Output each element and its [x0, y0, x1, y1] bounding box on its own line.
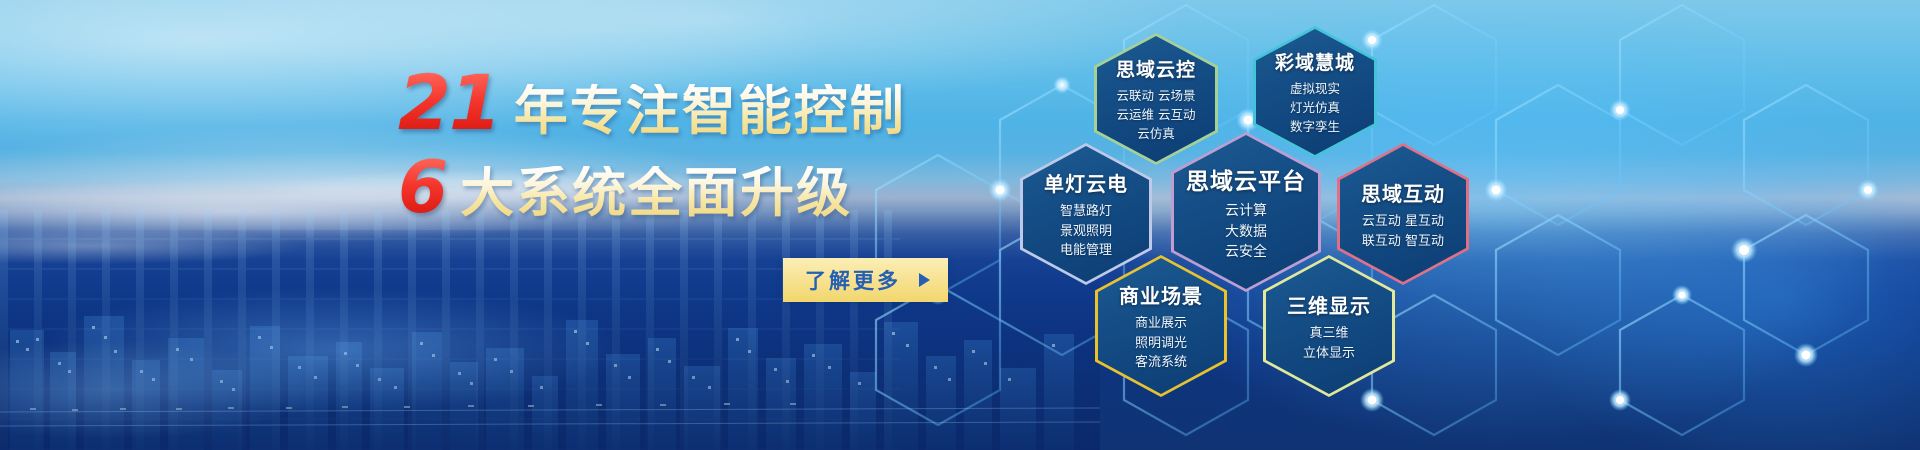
hex-line: 立体显示	[1303, 345, 1355, 362]
sky-gradient-background	[0, 0, 1920, 450]
hex-line: 灯光仿真	[1290, 100, 1340, 117]
hex-line: 大数据	[1225, 223, 1267, 242]
hex-line: 虚拟现实	[1290, 81, 1340, 98]
hex-title: 思域云控	[1116, 55, 1196, 82]
hex-line: 云互动 星互动	[1362, 213, 1444, 230]
headline-number-systems: 6	[398, 154, 446, 220]
hex-lines: 真三维 立体显示	[1303, 325, 1355, 362]
hex-title: 单灯云电	[1044, 168, 1128, 197]
hex-line: 智慧路灯	[1060, 203, 1112, 220]
triangle-right-icon	[919, 273, 930, 287]
hex-line: 云联动 云场景	[1117, 88, 1196, 105]
headline-text-2: 大系统全面升级	[460, 166, 852, 220]
hex-line: 云运维 云互动	[1117, 107, 1196, 124]
hex-lines: 云联动 云场景 云运维 云互动 云仿真	[1117, 88, 1196, 142]
headline-line-2: 6 大系统全面升级	[398, 154, 958, 220]
hex-lines: 商业展示 照明调光 客流系统	[1135, 315, 1187, 371]
hex-title: 思域互动	[1361, 178, 1445, 207]
hex-title: 商业场景	[1119, 280, 1203, 309]
hex-line: 照明调光	[1135, 335, 1187, 352]
hex-line: 云计算	[1225, 202, 1267, 221]
hex-lines: 智慧路灯 景观照明 电能管理	[1060, 203, 1112, 259]
hex-line: 真三维	[1303, 325, 1355, 342]
learn-more-label: 了解更多	[805, 265, 901, 295]
promo-banner: 21 年专注智能控制 6 大系统全面升级 了解更多 思域云控 云联动 云场景 云…	[0, 0, 1920, 450]
headline-text-1: 年专注智能控制	[514, 84, 906, 138]
hex-title: 三维显示	[1287, 290, 1371, 319]
hex-line: 云安全	[1225, 243, 1267, 262]
learn-more-button[interactable]: 了解更多	[783, 258, 948, 302]
hex-line: 云仿真	[1117, 126, 1196, 143]
hex-line: 联互动 智互动	[1362, 233, 1444, 250]
hex-line: 电能管理	[1060, 242, 1112, 259]
hex-line: 数字孪生	[1290, 119, 1340, 136]
hex-title: 思域云平台	[1186, 162, 1306, 196]
headline-line-1: 21 年专注智能控制	[398, 68, 958, 138]
hex-line: 景观照明	[1060, 223, 1112, 240]
headline-block: 21 年专注智能控制 6 大系统全面升级	[398, 68, 958, 220]
hex-lines: 虚拟现实 灯光仿真 数字孪生	[1290, 81, 1340, 135]
hex-lines: 云互动 星互动 联互动 智互动	[1362, 213, 1444, 250]
hex-line: 客流系统	[1135, 354, 1187, 371]
hex-line: 商业展示	[1135, 315, 1187, 332]
headline-number-years: 21	[398, 68, 500, 138]
hex-lines: 云计算 大数据 云安全	[1225, 202, 1267, 262]
hex-title: 彩域慧城	[1275, 48, 1355, 75]
